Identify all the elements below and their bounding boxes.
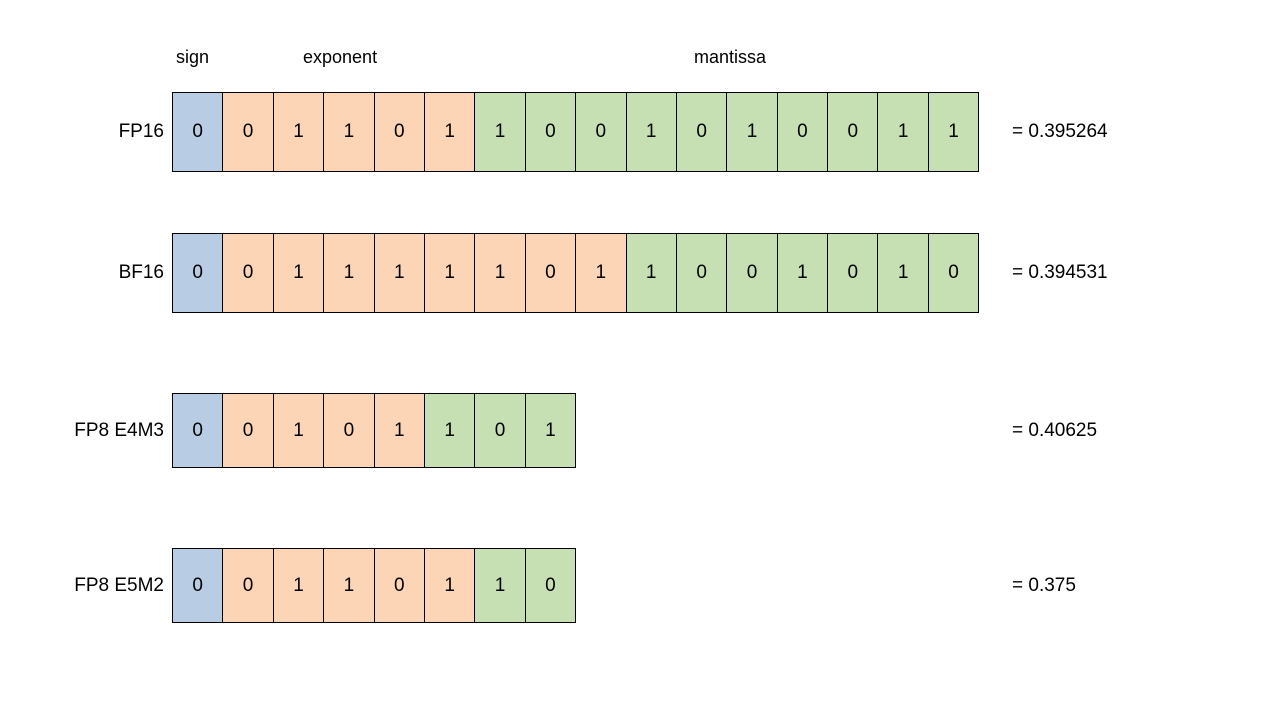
bit-cell-mantissa: 0 <box>928 233 979 313</box>
bit-cell-exponent: 0 <box>222 393 273 468</box>
bit-cell-mantissa: 0 <box>827 92 878 172</box>
bit-cell-mantissa: 1 <box>474 548 525 623</box>
bit-cell-sign: 0 <box>172 548 223 623</box>
bit-cell-exponent: 0 <box>323 393 374 468</box>
field-label-exponent: exponent <box>303 48 377 66</box>
format-name-fp8-e4m3: FP8 E4M3 <box>4 393 164 468</box>
decimal-value-fp16: = 0.395264 <box>1012 92 1108 172</box>
bit-cell-mantissa: 1 <box>424 393 475 468</box>
bit-cell-exponent: 1 <box>323 92 374 172</box>
bit-cell-mantissa: 0 <box>777 92 828 172</box>
bit-cell-mantissa: 1 <box>928 92 979 172</box>
bit-cell-mantissa: 0 <box>525 548 576 623</box>
bit-cell-exponent: 1 <box>374 233 425 313</box>
bit-cell-exponent: 1 <box>273 233 324 313</box>
bit-cell-mantissa: 1 <box>525 393 576 468</box>
decimal-value-bf16: = 0.394531 <box>1012 233 1108 313</box>
bit-cell-exponent: 0 <box>222 92 273 172</box>
bit-cell-exponent: 0 <box>374 92 425 172</box>
bit-cell-mantissa: 0 <box>676 92 727 172</box>
bit-cell-sign: 0 <box>172 233 223 313</box>
bit-cells-fp16: 0011011001010011 <box>172 92 979 172</box>
bit-cells-fp8-e4m3: 00101101 <box>172 393 576 468</box>
bit-cells-bf16: 0011111011001010 <box>172 233 979 313</box>
float-format-bit-layout-diagram: sign exponent mantissa FP16 001101100101… <box>0 0 1280 720</box>
bit-cell-mantissa: 0 <box>474 393 525 468</box>
bit-cells-fp8-e5m2: 00110110 <box>172 548 576 623</box>
bit-cell-mantissa: 1 <box>626 233 677 313</box>
bit-cell-exponent: 0 <box>222 548 273 623</box>
bit-cell-mantissa: 0 <box>525 92 576 172</box>
bit-cell-mantissa: 0 <box>827 233 878 313</box>
format-name-bf16: BF16 <box>4 233 164 313</box>
bit-cell-exponent: 1 <box>424 548 475 623</box>
bit-cell-exponent: 0 <box>374 548 425 623</box>
bit-cell-mantissa: 0 <box>726 233 777 313</box>
bit-cell-mantissa: 1 <box>626 92 677 172</box>
bit-cell-exponent: 1 <box>323 233 374 313</box>
bit-cell-exponent: 0 <box>222 233 273 313</box>
decimal-value-fp8-e4m3: = 0.40625 <box>1012 393 1097 468</box>
bit-cell-exponent: 1 <box>575 233 626 313</box>
field-label-sign: sign <box>176 48 209 66</box>
format-name-fp8-e5m2: FP8 E5M2 <box>4 548 164 623</box>
bit-cell-exponent: 0 <box>525 233 576 313</box>
bit-cell-exponent: 1 <box>273 393 324 468</box>
bit-cell-mantissa: 1 <box>474 92 525 172</box>
bit-cell-exponent: 1 <box>273 548 324 623</box>
bit-cell-mantissa: 1 <box>777 233 828 313</box>
bit-cell-mantissa: 0 <box>676 233 727 313</box>
bit-cell-exponent: 1 <box>323 548 374 623</box>
decimal-value-fp8-e5m2: = 0.375 <box>1012 548 1076 623</box>
bit-cell-mantissa: 1 <box>877 233 928 313</box>
field-label-mantissa: mantissa <box>694 48 766 66</box>
bit-cell-mantissa: 1 <box>726 92 777 172</box>
bit-cell-mantissa: 0 <box>575 92 626 172</box>
bit-cell-sign: 0 <box>172 393 223 468</box>
bit-cell-exponent: 1 <box>424 233 475 313</box>
bit-cell-exponent: 1 <box>374 393 425 468</box>
bit-cell-exponent: 1 <box>273 92 324 172</box>
format-name-fp16: FP16 <box>4 92 164 172</box>
bit-cell-exponent: 1 <box>424 92 475 172</box>
bit-cell-exponent: 1 <box>474 233 525 313</box>
bit-cell-sign: 0 <box>172 92 223 172</box>
bit-cell-mantissa: 1 <box>877 92 928 172</box>
